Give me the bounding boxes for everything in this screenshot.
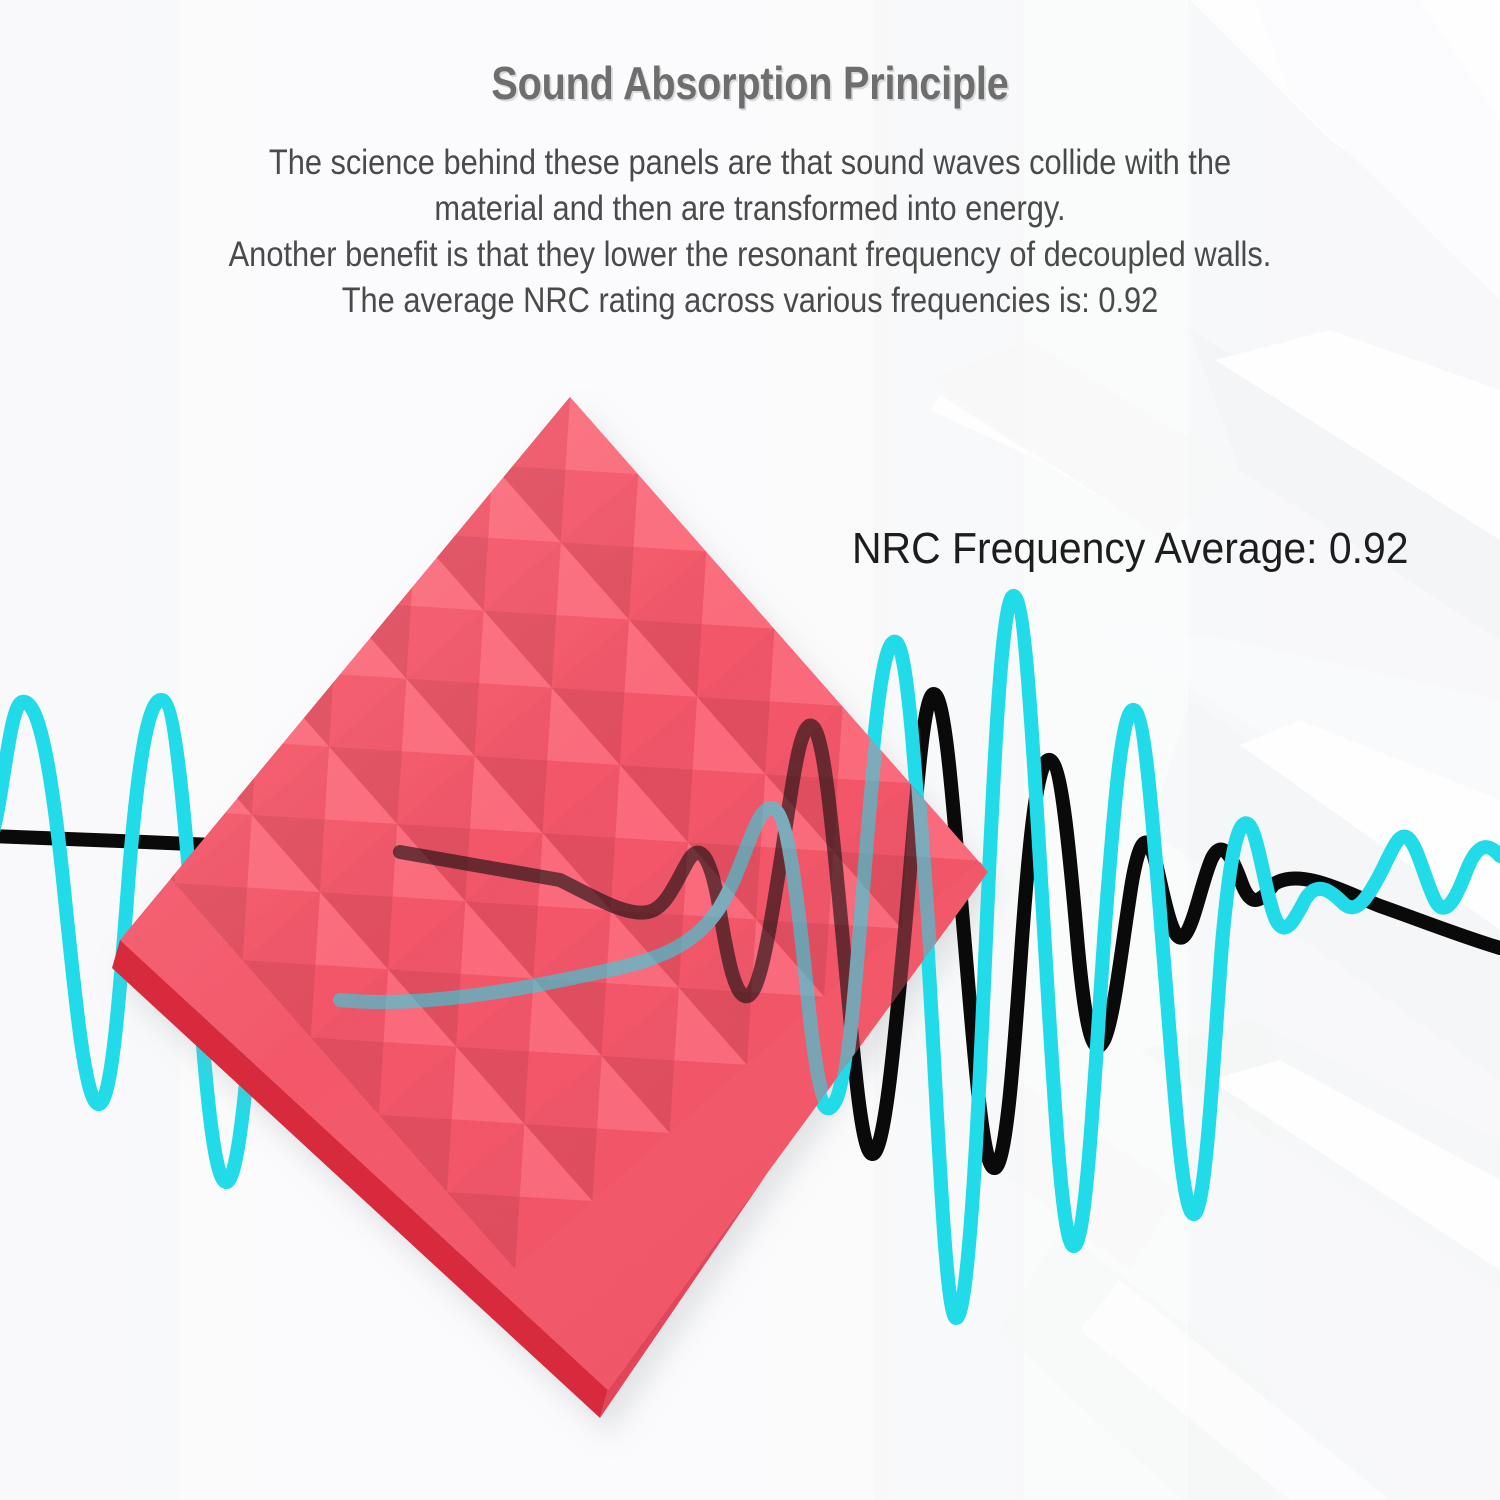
black-wave-main [400,694,1500,1168]
waves-foreground [0,0,1500,1500]
cyan-wave-main [340,596,1500,1318]
product-infographic: NRC Frequency Average: 0.92 Sound Absorp… [0,0,1500,1500]
